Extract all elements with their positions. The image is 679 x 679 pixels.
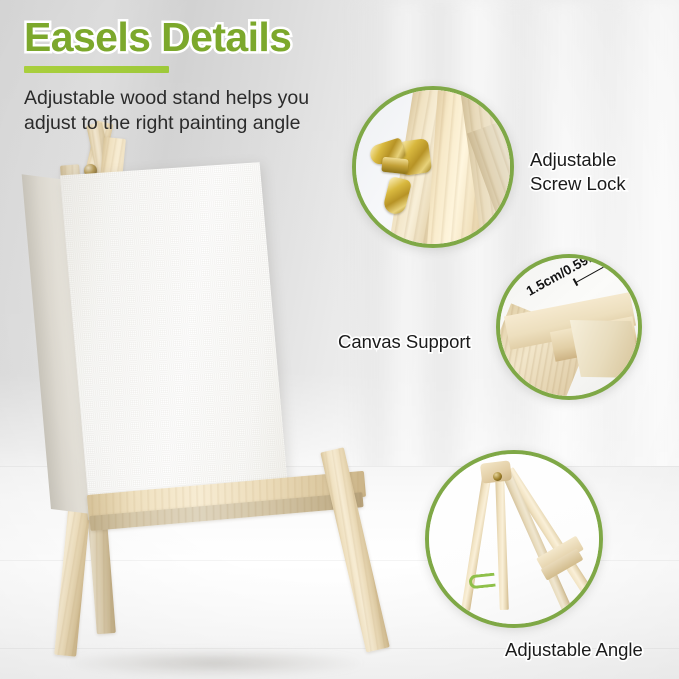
headline-block: Easels Details Adjustable wood stand hel… — [24, 16, 384, 136]
wood-ledge-end-grain — [570, 320, 642, 378]
callout-circle-adjustable-angle — [425, 450, 603, 628]
callout-label-adjustable-angle: Adjustable Angle — [505, 638, 643, 662]
callout-label-screw-lock: Adjustable Screw Lock — [530, 148, 626, 196]
tripod-green-clip — [468, 573, 495, 590]
infographic-canvas: Easels Details Adjustable wood stand hel… — [0, 0, 679, 679]
callout-circle-canvas-support: 1.5cm/0.59in — [496, 254, 642, 400]
callout-circle-screw-lock — [352, 86, 514, 248]
callout-label-canvas-support: Canvas Support — [338, 330, 471, 354]
brass-screw-thread — [381, 157, 408, 175]
adjustable-angle-photo — [429, 454, 599, 624]
page-title: Easels Details — [24, 16, 384, 59]
title-underline-rule — [24, 66, 169, 73]
tripod-pivot-screw — [493, 472, 502, 481]
canvas-support-photo: 1.5cm/0.59in — [500, 258, 638, 396]
page-subtitle: Adjustable wood stand helps you adjust t… — [24, 86, 354, 136]
screw-lock-photo — [356, 90, 510, 244]
